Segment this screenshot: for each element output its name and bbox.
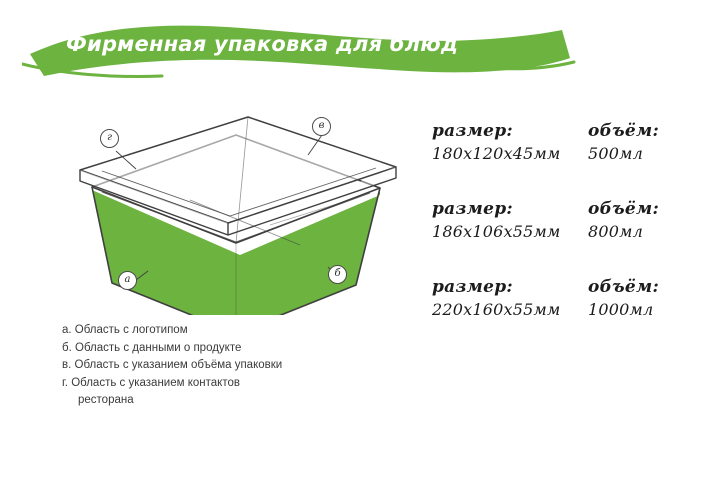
spec-volume-value-3: 1000мл	[588, 298, 698, 322]
spec-volume-label-3: объём:	[588, 276, 698, 298]
spec-size-value-3: 220х160х55мм	[432, 298, 584, 322]
legend-key-b: б.	[62, 340, 72, 358]
legend-item-v: в. Область с указанием объёма упаковки	[62, 357, 362, 375]
marker-b: б	[328, 265, 347, 284]
page-root: Фирменная упаковка для блюд	[0, 0, 720, 480]
legend-item-b: б. Область с данными о продукте	[62, 340, 362, 358]
marker-v: в	[312, 117, 331, 136]
spec-size-label-1: размер:	[432, 120, 584, 142]
spec-volume-3: объём: 1000мл	[588, 276, 698, 322]
spec-volume-2: объём: 800мл	[588, 198, 698, 244]
spec-volume-value-2: 800мл	[588, 220, 698, 244]
title-banner: Фирменная упаковка для блюд	[22, 18, 582, 80]
spec-volume-label-2: объём:	[588, 198, 698, 220]
legend-item-g-cont: ресторана	[62, 392, 362, 410]
legend-key-a: а.	[62, 322, 72, 340]
legend-item-a: а. Область с логотипом	[62, 322, 362, 340]
spec-row-3: размер: 220х160х55мм объём: 1000мл	[432, 276, 698, 354]
legend-key-g: г.	[62, 375, 68, 393]
spec-list: размер: 180х120х45мм объём: 500мл размер…	[432, 120, 698, 354]
spec-volume-label-1: объём:	[588, 120, 698, 142]
spec-row-2: размер: 186х106х55мм объём: 800мл	[432, 198, 698, 276]
spec-size-label-3: размер:	[432, 276, 584, 298]
marker-a: а	[118, 271, 137, 290]
legend-text-g-cont: ресторана	[78, 394, 134, 406]
spec-size-3: размер: 220х160х55мм	[432, 276, 584, 322]
spec-volume-1: объём: 500мл	[588, 120, 698, 166]
marker-g: г	[100, 129, 119, 148]
legend-text-v: Область с указанием объёма упаковки	[75, 359, 283, 371]
legend-text-g: Область с указанием контактов	[71, 377, 240, 389]
spec-size-value-2: 186х106х55мм	[432, 220, 584, 244]
spec-volume-value-1: 500мл	[588, 142, 698, 166]
page-title: Фирменная упаковка для блюд	[66, 32, 458, 56]
spec-size-2: размер: 186х106х55мм	[432, 198, 584, 244]
legend-text-a: Область с логотипом	[75, 324, 188, 336]
spec-size-value-1: 180х120х45мм	[432, 142, 584, 166]
spec-size-label-2: размер:	[432, 198, 584, 220]
spec-row-1: размер: 180х120х45мм объём: 500мл	[432, 120, 698, 198]
container-illustration: г в а б	[40, 95, 420, 315]
legend-key-v: в.	[62, 357, 71, 375]
container-drawing	[40, 95, 420, 315]
legend: а. Область с логотипом б. Область с данн…	[62, 322, 362, 410]
legend-item-g: г. Область с указанием контактов	[62, 375, 362, 393]
legend-text-b: Область с данными о продукте	[75, 342, 241, 354]
spec-size-1: размер: 180х120х45мм	[432, 120, 584, 166]
